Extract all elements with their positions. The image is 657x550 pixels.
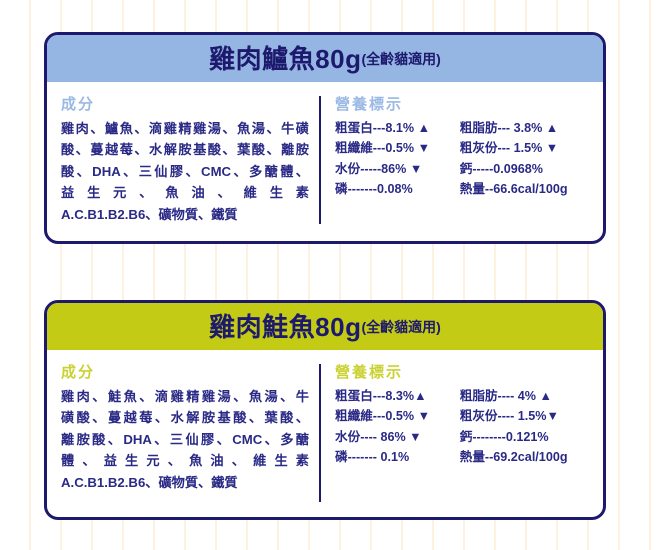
nutrition-table: 粗蛋白---8.1% ▲ 粗脂肪--- 3.8% ▲ 粗纖維---0.5% ▼ … bbox=[335, 118, 589, 200]
nutrition-cell: 粗蛋白---8.3%▲ bbox=[335, 386, 460, 406]
nutrition-cell: 粗脂肪---- 4% ▲ bbox=[460, 386, 589, 406]
ingredients-line: 益生元、魚油、維生素 bbox=[61, 182, 309, 203]
card-header: 雞肉鱸魚80g(全齡貓適用) bbox=[47, 35, 603, 82]
nutrition-cell: 磷------- 0.1% bbox=[335, 447, 460, 467]
nutrition-heading: 營養標示 bbox=[335, 364, 589, 382]
product-title: 雞肉鮭魚80g bbox=[209, 314, 361, 340]
ingredients-column: 成分 雞肉、鱸魚、滴雞精雞湯、魚湯、牛磺 酸、蔓越莓、水解胺基酸、葉酸、離胺 酸… bbox=[61, 96, 319, 225]
table-row: 磷-------0.08% 熱量--66.6cal/100g bbox=[335, 179, 589, 199]
table-row: 粗纖維---0.5% ▼ 粗灰份--- 1.5% ▼ bbox=[335, 138, 589, 158]
ingredients-line: 離胺酸、DHA、三仙膠、CMC、多醣 bbox=[61, 429, 309, 450]
ingredients-text: 雞肉、鱸魚、滴雞精雞湯、魚湯、牛磺 酸、蔓越莓、水解胺基酸、葉酸、離胺 酸、DH… bbox=[61, 118, 309, 225]
nutrition-cell: 粗灰份---- 1.5%▼ bbox=[460, 406, 589, 426]
card-body: 成分 雞肉、鱸魚、滴雞精雞湯、魚湯、牛磺 酸、蔓越莓、水解胺基酸、葉酸、離胺 酸… bbox=[47, 82, 603, 233]
ingredients-heading: 成分 bbox=[61, 96, 309, 114]
table-row: 粗蛋白---8.3%▲ 粗脂肪---- 4% ▲ bbox=[335, 386, 589, 406]
ingredients-text: 雞肉、鮭魚、滴雞精雞湯、魚湯、牛 磺酸、蔓越莓、水解胺基酸、葉酸、 離胺酸、DH… bbox=[61, 386, 309, 493]
nutrition-cell: 粗灰份--- 1.5% ▼ bbox=[460, 138, 589, 158]
ingredients-line: 雞肉、鱸魚、滴雞精雞湯、魚湯、牛磺 bbox=[61, 118, 309, 139]
nutrition-column: 營養標示 粗蛋白---8.1% ▲ 粗脂肪--- 3.8% ▲ 粗纖維---0.… bbox=[335, 96, 589, 225]
nutrition-table: 粗蛋白---8.3%▲ 粗脂肪---- 4% ▲ 粗纖維---0.5% ▼ 粗灰… bbox=[335, 386, 589, 468]
nutrition-cell: 熱量--66.6cal/100g bbox=[460, 179, 589, 199]
ingredients-line: A.C.B1.B2.B6、礦物質、鐵質 bbox=[61, 472, 309, 493]
product-card-chicken-salmon: 雞肉鮭魚80g(全齡貓適用) 成分 雞肉、鮭魚、滴雞精雞湯、魚湯、牛 磺酸、蔓越… bbox=[44, 300, 606, 520]
nutrition-heading: 營養標示 bbox=[335, 96, 589, 114]
nutrition-cell: 粗纖維---0.5% ▼ bbox=[335, 138, 460, 158]
ingredients-heading: 成分 bbox=[61, 364, 309, 382]
table-row: 磷------- 0.1% 熱量--69.2cal/100g bbox=[335, 447, 589, 467]
card-body: 成分 雞肉、鮭魚、滴雞精雞湯、魚湯、牛 磺酸、蔓越莓、水解胺基酸、葉酸、 離胺酸… bbox=[47, 350, 603, 510]
product-title: 雞肉鱸魚80g bbox=[209, 46, 361, 72]
nutrition-cell: 鈣--------0.121% bbox=[460, 427, 589, 447]
column-divider bbox=[319, 96, 321, 224]
nutrition-cell: 熱量--69.2cal/100g bbox=[460, 447, 589, 467]
product-spec-page: 雞肉鱸魚80g(全齡貓適用) 成分 雞肉、鱸魚、滴雞精雞湯、魚湯、牛磺 酸、蔓越… bbox=[0, 0, 657, 550]
ingredients-line: 雞肉、鮭魚、滴雞精雞湯、魚湯、牛 bbox=[61, 386, 309, 407]
table-row: 水份-----86% ▼ 鈣-----0.0968% bbox=[335, 159, 589, 179]
ingredients-line: 酸、蔓越莓、水解胺基酸、葉酸、離胺 bbox=[61, 139, 309, 160]
ingredients-column: 成分 雞肉、鮭魚、滴雞精雞湯、魚湯、牛 磺酸、蔓越莓、水解胺基酸、葉酸、 離胺酸… bbox=[61, 364, 319, 502]
product-title-suffix: (全齡貓適用) bbox=[361, 52, 440, 66]
ingredients-line: 酸、DHA、三仙膠、CMC、多醣體、 bbox=[61, 161, 309, 182]
nutrition-cell: 磷-------0.08% bbox=[335, 179, 460, 199]
ingredients-line: 磺酸、蔓越莓、水解胺基酸、葉酸、 bbox=[61, 407, 309, 428]
column-divider bbox=[319, 364, 321, 502]
ingredients-line: 體、益生元、魚油、維生素 bbox=[61, 450, 309, 471]
nutrition-cell: 粗蛋白---8.1% ▲ bbox=[335, 118, 460, 138]
card-header: 雞肉鮭魚80g(全齡貓適用) bbox=[47, 303, 603, 350]
table-row: 粗纖維---0.5% ▼ 粗灰份---- 1.5%▼ bbox=[335, 406, 589, 426]
product-title-suffix: (全齡貓適用) bbox=[361, 320, 440, 334]
nutrition-column: 營養標示 粗蛋白---8.3%▲ 粗脂肪---- 4% ▲ 粗纖維---0.5%… bbox=[335, 364, 589, 502]
table-row: 水份---- 86% ▼ 鈣--------0.121% bbox=[335, 427, 589, 447]
nutrition-cell: 水份---- 86% ▼ bbox=[335, 427, 460, 447]
product-card-chicken-seabass: 雞肉鱸魚80g(全齡貓適用) 成分 雞肉、鱸魚、滴雞精雞湯、魚湯、牛磺 酸、蔓越… bbox=[44, 32, 606, 244]
nutrition-cell: 粗纖維---0.5% ▼ bbox=[335, 406, 460, 426]
nutrition-cell: 粗脂肪--- 3.8% ▲ bbox=[460, 118, 589, 138]
ingredients-line: A.C.B1.B2.B6、礦物質、鐵質 bbox=[61, 204, 309, 225]
nutrition-cell: 水份-----86% ▼ bbox=[335, 159, 460, 179]
nutrition-cell: 鈣-----0.0968% bbox=[460, 159, 589, 179]
table-row: 粗蛋白---8.1% ▲ 粗脂肪--- 3.8% ▲ bbox=[335, 118, 589, 138]
